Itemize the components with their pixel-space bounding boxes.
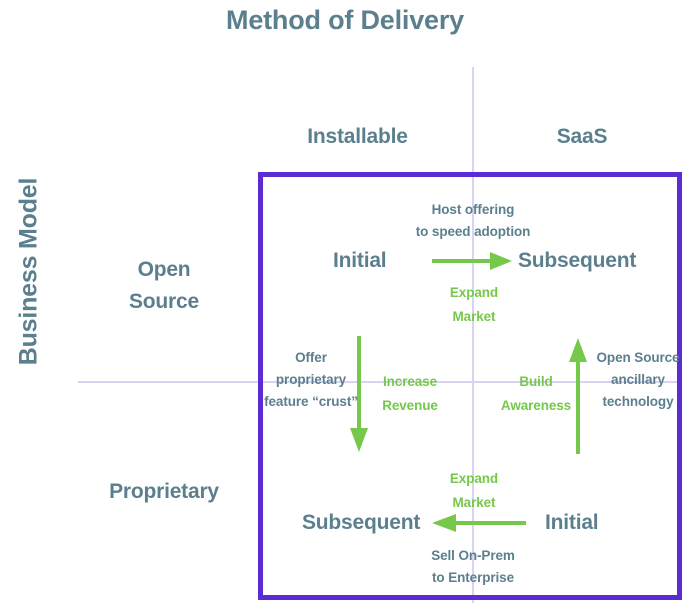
row-label-open-source-line1: Open xyxy=(76,254,252,286)
transition-motive-top-line2: Market xyxy=(428,305,520,329)
transition-motive-left: Increase Revenue xyxy=(366,370,454,418)
column-label-installable: Installable xyxy=(265,125,450,149)
transition-note-left: Offer proprietary feature “crust” xyxy=(263,347,359,413)
transition-note-top: Host offering to speed adoption xyxy=(380,199,566,243)
quadrant-diagram: Method of Delivery Business Model Instal… xyxy=(0,0,690,608)
arrow-left-bottom xyxy=(432,512,526,534)
transition-note-left-line2: proprietary xyxy=(263,369,359,391)
transition-note-right-line2: ancillary xyxy=(590,369,686,391)
transition-note-top-line1: Host offering xyxy=(380,199,566,221)
transition-note-bottom: Sell On-Prem to Enterprise xyxy=(380,545,566,589)
row-label-open-source: Open Source xyxy=(76,254,252,318)
transition-motive-left-line1: Increase xyxy=(366,370,454,394)
column-label-saas: SaaS xyxy=(497,125,667,149)
transition-motive-bottom-line1: Expand xyxy=(428,467,520,491)
row-label-open-source-line2: Source xyxy=(76,286,252,318)
x-axis-title: Method of Delivery xyxy=(0,0,690,40)
transition-motive-left-line2: Revenue xyxy=(366,394,454,418)
transition-note-right-line1: Open Source xyxy=(590,347,686,369)
transition-note-bottom-line1: Sell On-Prem xyxy=(380,545,566,567)
transition-motive-bottom: Expand Market xyxy=(428,467,520,515)
transition-note-left-line1: Offer xyxy=(263,347,359,369)
stage-bottom-right: Initial xyxy=(545,511,598,535)
arrow-up-middle xyxy=(567,336,589,454)
transition-note-bottom-line2: to Enterprise xyxy=(380,567,566,589)
transition-motive-top: Expand Market xyxy=(428,281,520,329)
transition-note-top-line2: to speed adoption xyxy=(380,221,566,243)
transition-note-left-line3: feature “crust” xyxy=(263,391,359,413)
row-label-proprietary: Proprietary xyxy=(76,476,252,508)
arrow-right-top xyxy=(432,250,514,272)
stage-top-left: Initial xyxy=(333,249,386,273)
transition-note-right-line3: technology xyxy=(590,391,686,413)
transition-motive-top-line1: Expand xyxy=(428,281,520,305)
stage-top-right: Subsequent xyxy=(518,249,636,273)
stage-bottom-left: Subsequent xyxy=(302,511,420,535)
transition-note-right: Open Source ancillary technology xyxy=(590,347,686,413)
y-axis-title: Business Model xyxy=(15,157,44,387)
